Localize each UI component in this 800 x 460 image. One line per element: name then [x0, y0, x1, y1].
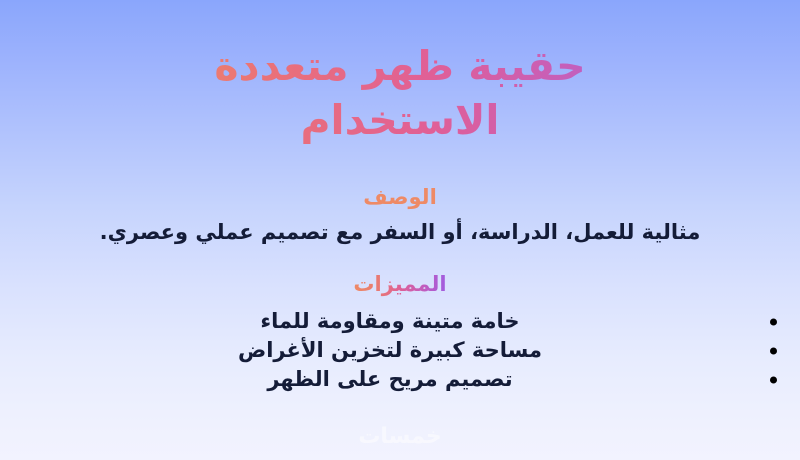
list-item: خامة متينة ومقاومة للماء: [0, 307, 800, 336]
list-item: تصميم مريح على الظهر: [0, 365, 800, 394]
title-line-1: حقيبة ظهر متعددة: [0, 40, 800, 92]
slide-title: حقيبة ظهر متعددة الاستخدام: [0, 40, 800, 147]
features-heading: المميزات: [353, 272, 446, 297]
list-item: مساحة كبيرة لتخزين الأغراض: [0, 336, 800, 365]
bullet-dot-icon: [770, 347, 777, 354]
title-line-2: الاستخدام: [0, 94, 800, 146]
description-heading: الوصف: [0, 185, 800, 210]
feature-text: تصميم مريح على الظهر: [267, 365, 512, 394]
description-body: مثالية للعمل، الدراسة، أو السفر مع تصميم…: [0, 219, 800, 246]
features-section: المميزات خامة متينة ومقاومة للماء مساحة …: [0, 272, 800, 394]
feature-text: خامة متينة ومقاومة للماء: [260, 307, 519, 336]
feature-text: مساحة كبيرة لتخزين الأغراض: [238, 336, 542, 365]
watermark: خمسات: [0, 424, 800, 450]
product-slide: حقيبة ظهر متعددة الاستخدام الوصف مثالية …: [0, 0, 800, 460]
description-section: الوصف مثالية للعمل، الدراسة، أو السفر مع…: [0, 185, 800, 246]
bullet-dot-icon: [770, 318, 777, 325]
features-list: خامة متينة ومقاومة للماء مساحة كبيرة لتخ…: [0, 307, 800, 394]
bullet-dot-icon: [770, 376, 777, 383]
